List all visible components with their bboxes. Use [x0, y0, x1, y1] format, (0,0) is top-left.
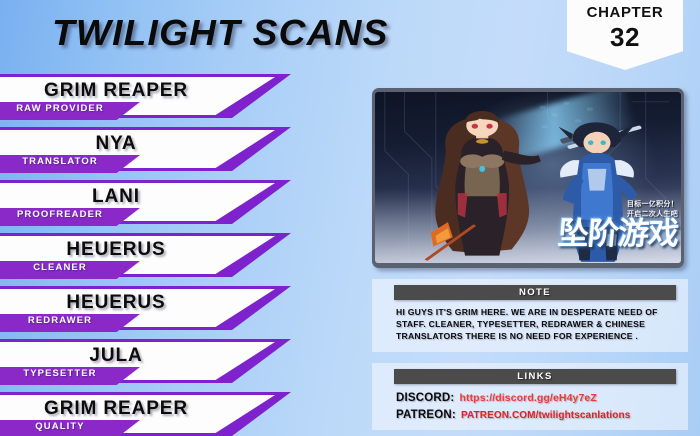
credit-row: JULA TYPESETTER: [0, 339, 300, 391]
credits-list: GRIM REAPER RAW PROVIDER NYA TRANSLATOR …: [0, 74, 300, 436]
links-heading: LINKS: [517, 371, 553, 382]
discord-label: DISCORD:: [396, 392, 454, 404]
note-heading: NOTE: [519, 287, 551, 298]
chapter-credits-page: TWILIGHT SCANS CHAPTER 32 GRIM REAPER RA…: [0, 0, 700, 436]
credit-name: LANI: [0, 186, 232, 208]
patreon-link-row: PATREON: PATREON.COM/twilightscanlations: [396, 409, 674, 421]
credit-row: HEUERUS CLEANER: [0, 233, 300, 285]
patreon-url[interactable]: PATREON.COM/twilightscanlations: [461, 410, 630, 421]
chapter-label: CHAPTER: [587, 5, 664, 20]
artwork-image: 目标一亿积分！ 开启二次人生吧 坠阶游戏: [375, 92, 681, 263]
artwork-logo: 目标一亿积分！ 开启二次人生吧 坠阶游戏: [558, 201, 678, 249]
credit-name: GRIM REAPER: [0, 398, 232, 420]
links-panel-body: DISCORD: https://discord.gg/eH4y7eZ PATR…: [372, 384, 688, 421]
links-panel: LINKS DISCORD: https://discord.gg/eH4y7e…: [372, 363, 688, 430]
page-title: TWILIGHT SCANS: [52, 12, 389, 54]
credit-name: HEUERUS: [0, 239, 232, 261]
credit-row: LANI PROOFREADER: [0, 180, 300, 232]
note-panel-body: HI GUYS IT'S GRIM HERE. WE ARE IN DESPER…: [372, 300, 688, 343]
note-panel-header: NOTE: [394, 285, 676, 300]
right-column: 目标一亿积分！ 开启二次人生吧 坠阶游戏 NOTE HI GUYS IT'S G…: [372, 88, 688, 430]
credit-name: GRIM REAPER: [0, 80, 232, 102]
credit-role: TYPESETTER: [0, 368, 126, 379]
credit-role: RAW PROVIDER: [0, 103, 126, 114]
chapter-number: 32: [610, 24, 640, 50]
character-female-icon: [421, 111, 543, 263]
note-panel: NOTE HI GUYS IT'S GRIM HERE. WE ARE IN D…: [372, 279, 688, 352]
patreon-label: PATREON:: [396, 409, 456, 421]
credit-row: HEUERUS REDRAWER: [0, 286, 300, 338]
credit-name: JULA: [0, 345, 232, 367]
artwork-frame: 目标一亿积分！ 开启二次人生吧 坠阶游戏: [372, 88, 684, 268]
links-panel-header: LINKS: [394, 369, 676, 384]
credit-name: HEUERUS: [0, 292, 232, 314]
credit-row: GRIM REAPER QUALITY: [0, 392, 300, 436]
artwork-tagline-1: 目标一亿积分！: [558, 201, 678, 210]
credit-role: PROOFREADER: [0, 209, 126, 220]
credit-role: QUALITY: [0, 421, 126, 432]
credit-row: NYA TRANSLATOR: [0, 127, 300, 179]
credit-row: GRIM REAPER RAW PROVIDER: [0, 74, 300, 126]
note-text: HI GUYS IT'S GRIM HERE. WE ARE IN DESPER…: [396, 306, 674, 343]
credit-role: CLEANER: [0, 262, 126, 273]
chapter-badge: CHAPTER 32: [567, 0, 683, 70]
artwork-title: 坠阶游戏: [557, 220, 679, 249]
credit-name: NYA: [0, 133, 232, 155]
discord-url[interactable]: https://discord.gg/eH4y7eZ: [459, 392, 596, 404]
credit-role: REDRAWER: [0, 315, 126, 326]
credit-role: TRANSLATOR: [0, 156, 126, 167]
discord-link-row: DISCORD: https://discord.gg/eH4y7eZ: [396, 392, 674, 404]
